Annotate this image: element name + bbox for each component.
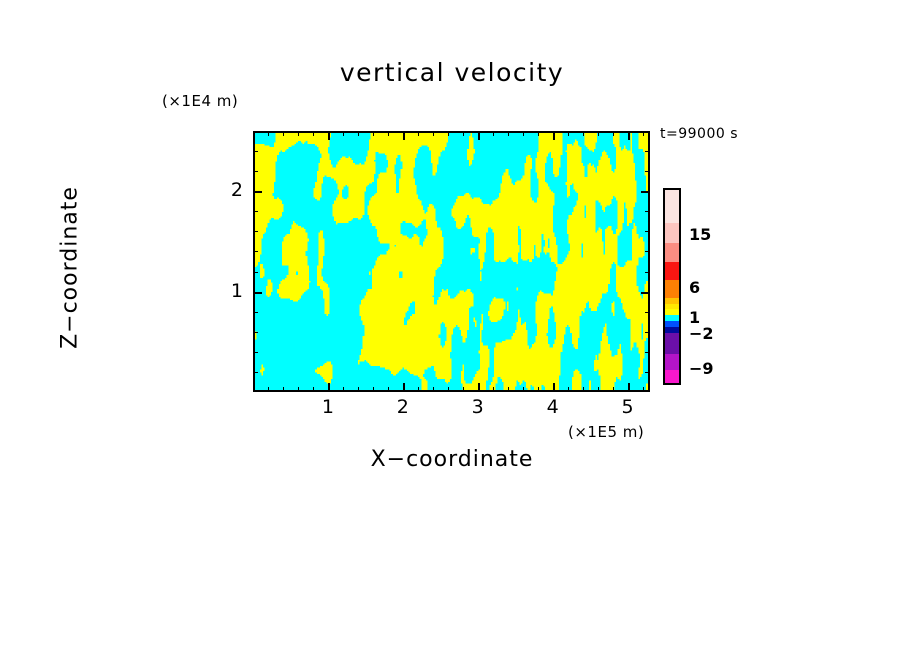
y-axis-unit-label: (×1E4 m): [162, 92, 238, 110]
minor-tick: [645, 171, 650, 172]
minor-tick: [598, 131, 599, 136]
minor-tick: [253, 372, 258, 373]
major-tick: [478, 131, 480, 140]
major-tick: [641, 292, 650, 294]
y-tick-label: 2: [213, 179, 243, 201]
minor-tick: [253, 312, 258, 313]
minor-tick: [343, 387, 344, 392]
minor-tick: [283, 131, 284, 136]
major-tick: [328, 383, 330, 392]
minor-tick: [298, 387, 299, 392]
minor-tick: [268, 387, 269, 392]
colorbar-tick-label: −9: [689, 359, 714, 378]
minor-tick: [298, 131, 299, 136]
minor-tick: [645, 251, 650, 252]
major-tick: [628, 131, 630, 140]
minor-tick: [568, 387, 569, 392]
minor-tick: [418, 131, 419, 136]
major-tick: [403, 383, 405, 392]
colorbar-tick-label: 6: [689, 278, 700, 297]
colorbar-band: [665, 243, 679, 262]
colorbar[interactable]: [663, 188, 681, 385]
minor-tick: [463, 131, 464, 136]
minor-tick: [253, 251, 258, 252]
minor-tick: [253, 171, 258, 172]
minor-tick: [508, 131, 509, 136]
minor-tick: [433, 131, 434, 136]
colorbar-band: [665, 354, 679, 371]
x-tick-label: 4: [538, 396, 568, 418]
minor-tick: [463, 387, 464, 392]
x-tick-labels: 12345: [253, 396, 650, 422]
minor-tick: [358, 131, 359, 136]
minor-tick: [253, 272, 258, 273]
minor-tick: [645, 312, 650, 313]
colorbar-band: [665, 190, 679, 223]
minor-tick: [643, 131, 644, 136]
minor-tick: [645, 372, 650, 373]
minor-tick: [253, 332, 258, 333]
minor-tick: [313, 131, 314, 136]
minor-tick: [583, 131, 584, 136]
minor-tick: [448, 131, 449, 136]
minor-tick: [418, 387, 419, 392]
minor-tick: [283, 387, 284, 392]
minor-tick: [583, 387, 584, 392]
minor-tick: [523, 387, 524, 392]
colorbar-band: [665, 333, 679, 354]
minor-tick: [388, 387, 389, 392]
colorbar-band: [665, 262, 679, 281]
major-tick: [553, 383, 555, 392]
major-tick: [553, 131, 555, 140]
minor-tick: [448, 387, 449, 392]
y-tick-label: 1: [213, 280, 243, 302]
minor-tick: [373, 387, 374, 392]
minor-tick: [643, 387, 644, 392]
minor-tick: [253, 352, 258, 353]
colorbar-band: [665, 370, 679, 383]
y-tick-labels: 12: [213, 131, 247, 392]
timestamp-label: t=99000 s: [660, 126, 738, 142]
minor-tick: [613, 387, 614, 392]
major-tick: [478, 383, 480, 392]
minor-tick: [645, 211, 650, 212]
axis-ticks: [253, 131, 650, 392]
major-tick: [253, 292, 262, 294]
y-axis-title: Z−coordinate: [58, 138, 83, 398]
minor-tick: [343, 131, 344, 136]
x-tick-label: 2: [388, 396, 418, 418]
colorbar-band: [665, 223, 679, 243]
minor-tick: [598, 387, 599, 392]
minor-tick: [433, 387, 434, 392]
minor-tick: [358, 387, 359, 392]
minor-tick: [253, 231, 258, 232]
minor-tick: [268, 131, 269, 136]
minor-tick: [645, 352, 650, 353]
minor-tick: [613, 131, 614, 136]
minor-tick: [493, 131, 494, 136]
minor-tick: [373, 131, 374, 136]
major-tick: [641, 191, 650, 193]
minor-tick: [538, 131, 539, 136]
minor-tick: [493, 387, 494, 392]
x-tick-label: 1: [313, 396, 343, 418]
minor-tick: [313, 387, 314, 392]
x-axis-unit-label: (×1E5 m): [568, 423, 644, 441]
minor-tick: [538, 387, 539, 392]
x-tick-label: 5: [613, 396, 643, 418]
colorbar-tick-label: 15: [689, 225, 711, 244]
minor-tick: [508, 387, 509, 392]
minor-tick: [645, 272, 650, 273]
x-tick-label: 3: [463, 396, 493, 418]
minor-tick: [388, 131, 389, 136]
x-axis-title: X−coordinate: [0, 447, 904, 472]
minor-tick: [253, 211, 258, 212]
minor-tick: [523, 131, 524, 136]
minor-tick: [253, 151, 258, 152]
minor-tick: [645, 332, 650, 333]
colorbar-band: [665, 280, 679, 298]
minor-tick: [645, 231, 650, 232]
minor-tick: [645, 151, 650, 152]
major-tick: [253, 191, 262, 193]
major-tick: [328, 131, 330, 140]
chart-title: vertical velocity: [0, 58, 904, 87]
minor-tick: [568, 131, 569, 136]
major-tick: [628, 383, 630, 392]
major-tick: [403, 131, 405, 140]
colorbar-tick-label: −2: [689, 324, 714, 343]
